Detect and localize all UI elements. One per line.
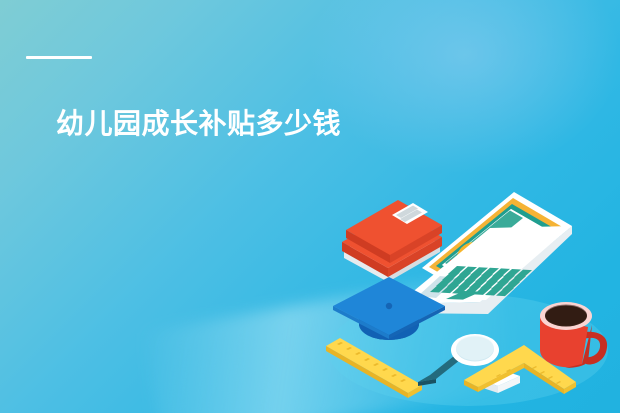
isometric-education-illustration — [318, 182, 620, 413]
coffee-mug — [540, 302, 607, 368]
title-divider — [26, 56, 92, 59]
banner: 幼儿园成长补贴多少钱 — [0, 0, 620, 413]
page-title: 幼儿园成长补贴多少钱 — [56, 104, 341, 144]
cap-button — [386, 303, 392, 309]
